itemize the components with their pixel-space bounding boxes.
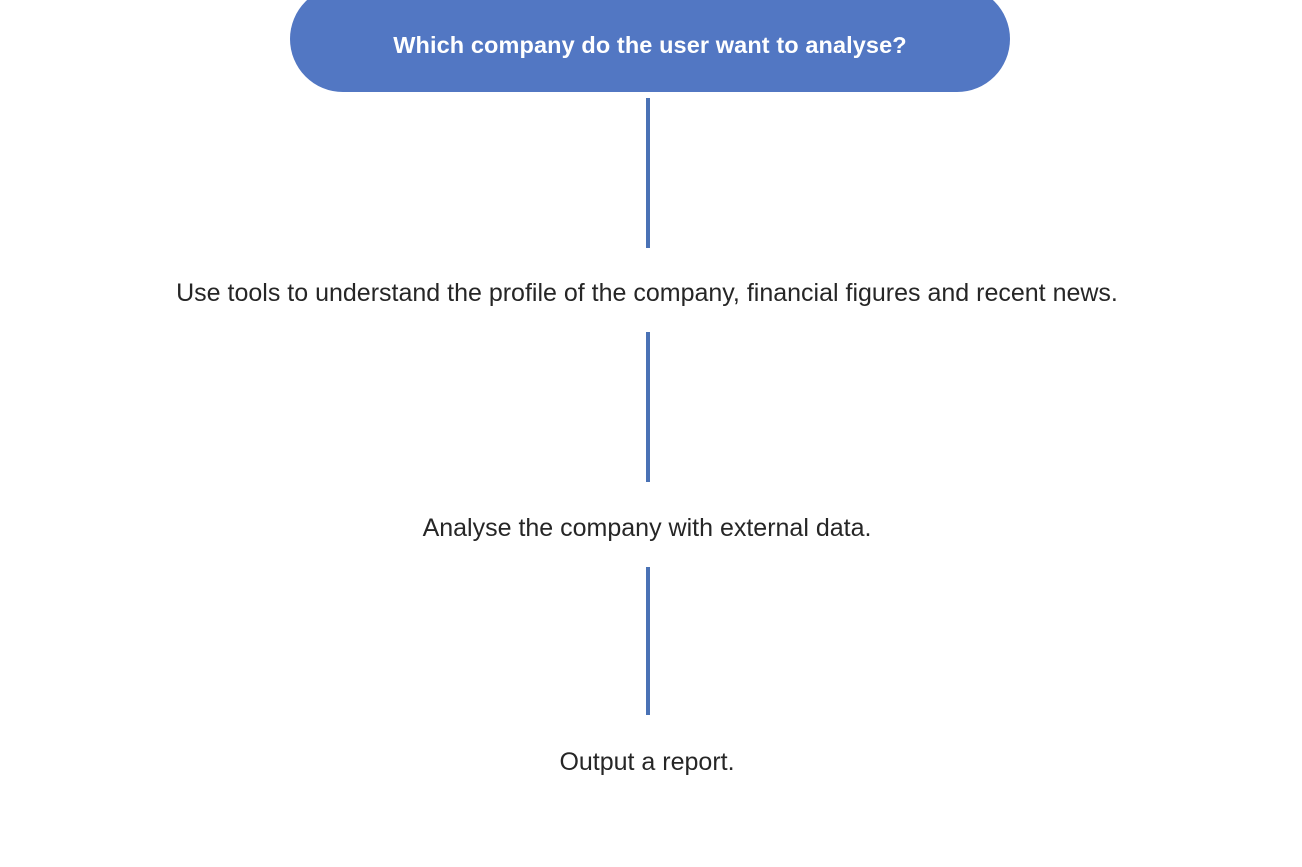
flowchart-node-question-label: Which company do the user want to analys… bbox=[393, 21, 906, 58]
flowchart-step-1-label: Use tools to understand the profile of t… bbox=[176, 279, 1118, 307]
flowchart-step-2: Analyse the company with external data. bbox=[0, 513, 1294, 543]
flowchart-step-3: Output a report. bbox=[0, 747, 1294, 777]
flowchart-node-question[interactable]: Which company do the user want to analys… bbox=[290, 0, 1010, 92]
flowchart-canvas: Which company do the user want to analys… bbox=[0, 0, 1302, 867]
flowchart-step-2-label: Analyse the company with external data. bbox=[423, 514, 872, 542]
flowchart-step-3-label: Output a report. bbox=[559, 748, 734, 776]
connector-line-3 bbox=[646, 567, 650, 715]
flowchart-step-1: Use tools to understand the profile of t… bbox=[0, 278, 1294, 308]
connector-line-2 bbox=[646, 332, 650, 482]
connector-line-1 bbox=[646, 98, 650, 248]
